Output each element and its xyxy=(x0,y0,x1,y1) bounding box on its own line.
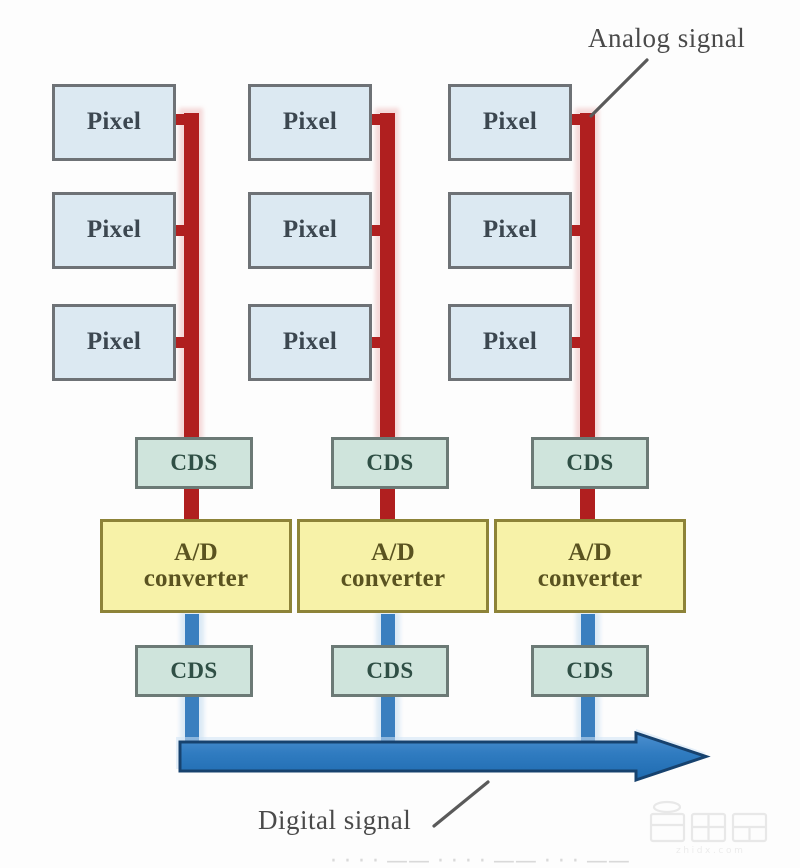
analog-bus-col-3 xyxy=(580,113,595,450)
cds-bottom-col-3[interactable]: CDS xyxy=(531,645,649,697)
cds-top-col-2[interactable]: CDS xyxy=(331,437,449,489)
pixel-cell-label: Pixel xyxy=(483,217,537,243)
adc-col-3[interactable]: A/D converter xyxy=(494,519,686,613)
cds-label: CDS xyxy=(366,451,413,475)
digital-signal-leader-line xyxy=(430,778,500,830)
analog-signal-leader-line xyxy=(585,56,655,122)
cds-label: CDS xyxy=(170,659,217,683)
analog-bus-col-2 xyxy=(380,113,395,450)
pixel-cell-r3c3[interactable]: Pixel xyxy=(448,304,572,381)
pixel-cell-r1c1[interactable]: Pixel xyxy=(52,84,176,161)
adc-label-line2: converter xyxy=(144,566,249,592)
bottom-caption-text: · · · · —— · · · · —— · · · —— xyxy=(330,849,630,868)
pixel-cell-label: Pixel xyxy=(483,109,537,135)
diagram-canvas: Pixel Pixel Pixel Pixel Pixel Pixel Pixe… xyxy=(0,0,800,868)
pixel-cell-r1c2[interactable]: Pixel xyxy=(248,84,372,161)
adc-col-2[interactable]: A/D converter xyxy=(297,519,489,613)
adc-label-line2: converter xyxy=(538,566,643,592)
pixel-cell-r3c1[interactable]: Pixel xyxy=(52,304,176,381)
cds-label: CDS xyxy=(566,451,613,475)
pixel-cell-r1c3[interactable]: Pixel xyxy=(448,84,572,161)
pixel-cell-r2c2[interactable]: Pixel xyxy=(248,192,372,269)
pixel-cell-label: Pixel xyxy=(87,109,141,135)
pixel-cell-label: Pixel xyxy=(87,329,141,355)
pixel-cell-label: Pixel xyxy=(283,217,337,243)
pixel-cell-r2c1[interactable]: Pixel xyxy=(52,192,176,269)
pixel-cell-r3c2[interactable]: Pixel xyxy=(248,304,372,381)
cds-label: CDS xyxy=(366,659,413,683)
cds-bottom-col-1[interactable]: CDS xyxy=(135,645,253,697)
adc-label-line1: A/D xyxy=(568,540,612,566)
site-watermark: zhidx.com xyxy=(634,798,784,856)
watermark-site-text: zhidx.com xyxy=(676,846,745,856)
pixel-cell-label: Pixel xyxy=(283,109,337,135)
adc-label-line1: A/D xyxy=(174,540,218,566)
analog-bus-col-1 xyxy=(184,113,199,450)
adc-label-line1: A/D xyxy=(371,540,415,566)
digital-signal-label: Digital signal xyxy=(258,805,411,836)
cds-top-col-1[interactable]: CDS xyxy=(135,437,253,489)
cds-bottom-col-2[interactable]: CDS xyxy=(331,645,449,697)
pixel-cell-r2c3[interactable]: Pixel xyxy=(448,192,572,269)
pixel-cell-label: Pixel xyxy=(483,329,537,355)
adc-col-1[interactable]: A/D converter xyxy=(100,519,292,613)
pixel-cell-label: Pixel xyxy=(283,329,337,355)
cds-label: CDS xyxy=(170,451,217,475)
pixel-cell-label: Pixel xyxy=(87,217,141,243)
adc-label-line2: converter xyxy=(341,566,446,592)
cds-label: CDS xyxy=(566,659,613,683)
cds-top-col-3[interactable]: CDS xyxy=(531,437,649,489)
analog-signal-label: Analog signal xyxy=(588,23,745,54)
